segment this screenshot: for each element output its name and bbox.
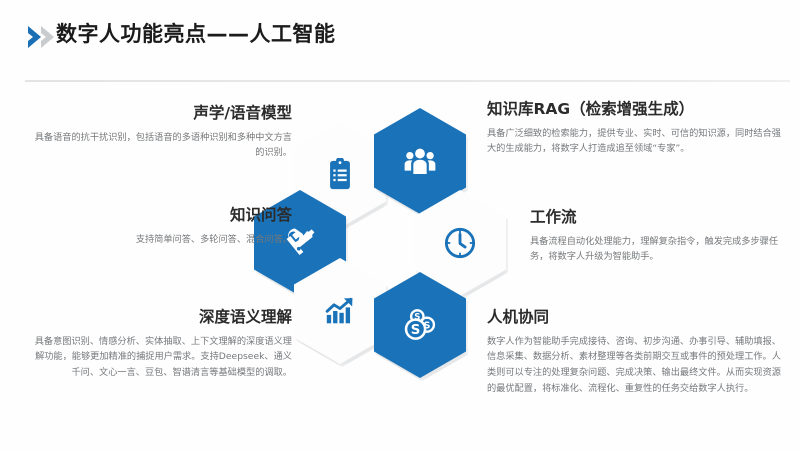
feature-title-acoustic: 声学/语音模型 — [30, 104, 292, 123]
feature-title-qa: 知识问答 — [30, 206, 292, 225]
feature-block-acoustic: 声学/语音模型 具备语音的抗干扰识别，包括语音的多语种识别和多种中文方言的识别。 — [30, 104, 292, 161]
slide-header: 数字人功能亮点——人工智能 — [0, 18, 800, 62]
feature-block-rag: 知识库RAG（检索增强生成） 具备广泛细致的检索能力，提供专业、实时、可信的知识… — [487, 100, 787, 157]
feature-body-qa: 支持简单问答、多轮问答、混合问答。 — [30, 232, 292, 248]
feature-body-workflow: 具备流程自动化处理能力，理解复杂指令，触发完成多步骤任务，将数字人升级为智能助手… — [530, 234, 787, 266]
feature-body-semantic: 具备意图识别、情感分析、实体抽取、上下文理解的深度语义理解功能，能够更加精准的捕… — [30, 334, 292, 381]
feature-block-collaboration: 人机协同 数字人作为智能助手完成接待、咨询、初步沟通、办事引导、辅助填报、信息采… — [487, 308, 787, 397]
header-divider — [25, 80, 790, 82]
feature-block-semantic: 深度语义理解 具备意图识别、情感分析、实体抽取、上下文理解的深度语义理解功能，能… — [30, 308, 292, 381]
slide-canvas: 数字人功能亮点——人工智能 — [0, 0, 800, 450]
people-group-icon — [401, 142, 439, 180]
clock-icon — [442, 225, 478, 261]
money-coins-icon: S S S — [401, 306, 439, 344]
bar-chart-growth-icon — [322, 293, 358, 329]
feature-title-semantic: 深度语义理解 — [30, 308, 292, 327]
svg-text:S: S — [411, 323, 421, 338]
feature-body-collaboration: 数字人作为智能助手完成接待、咨询、初步沟通、办事引导、辅助填报、信息采集、数据分… — [487, 334, 787, 397]
page-title: 数字人功能亮点——人工智能 — [56, 18, 336, 48]
feature-body-acoustic: 具备语音的抗干扰识别，包括语音的多语种识别和多种中文方言的识别。 — [30, 130, 292, 162]
hexagon-cluster: S S S — [288, 108, 503, 358]
feature-title-rag: 知识库RAG（检索增强生成） — [487, 100, 787, 119]
feature-block-qa: 知识问答 支持简单问答、多轮问答、混合问答。 — [30, 206, 292, 247]
feature-block-workflow: 工作流 具备流程自动化处理能力，理解复杂指令，触发完成多步骤任务，将数字人升级为… — [530, 208, 787, 265]
feature-title-workflow: 工作流 — [530, 208, 787, 227]
clipboard-checklist-icon — [323, 158, 357, 192]
feature-body-rag: 具备广泛细致的检索能力，提供专业、实时、可信的知识源，同时结合强大的生成能力，将… — [487, 126, 787, 158]
feature-title-collaboration: 人机协同 — [487, 308, 787, 327]
